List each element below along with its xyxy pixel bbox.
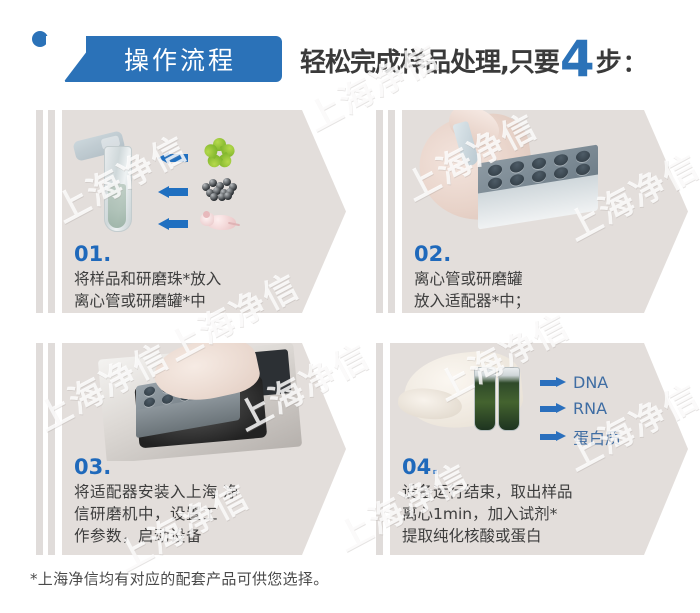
mouse-specimen-icon <box>200 210 240 232</box>
step-description-line: 作参数，启动设备 <box>74 525 239 547</box>
step-number: 02. <box>414 242 451 266</box>
headline-part2: 步 <box>596 42 621 79</box>
step-card-03: 03. 将适配器安装入上海 净 信研磨机中，设置工 作参数，启动设备 <box>36 343 346 555</box>
step-description-line: 信研磨机中，设置工 <box>74 503 239 525</box>
output-label: DNA <box>573 373 608 392</box>
badge-dot-icon <box>32 31 48 47</box>
step-description: 设备运行结束，取出样品 离心1min，加入试剂* 提取纯化核酸或蛋白 <box>402 481 573 547</box>
output-row-protein: 蛋白质 <box>540 425 621 449</box>
card-stripe <box>376 343 383 555</box>
step-04-photo: DNA RNA 蛋白质 <box>390 343 660 455</box>
step-description: 将样品和研磨珠*放入 离心管或研磨罐*中 <box>74 268 221 312</box>
leaf-specimen-icon <box>202 138 236 168</box>
page-header: 操作流程 轻松完成样品处理,只要 4 步 ： <box>0 0 700 96</box>
step-number: 04. <box>402 455 439 479</box>
grinding-beads-icon <box>200 176 238 200</box>
step-description-line: 设备运行结束，取出样品 <box>402 481 573 503</box>
arrow-left-icon <box>158 186 188 198</box>
step-description-line: 将样品和研磨珠*放入 <box>74 268 221 290</box>
output-label: 蛋白质 <box>573 425 621 449</box>
step-description-line: 提取纯化核酸或蛋白 <box>402 525 573 547</box>
step-description: 离心管或研磨罐 放入适配器*中； <box>414 268 530 312</box>
step-description-line: 离心1min，加入试剂* <box>402 503 573 525</box>
step-number: 01. <box>74 242 111 266</box>
card-stripe <box>388 110 395 313</box>
sample-vial-icon <box>498 367 520 431</box>
arrow-left-icon <box>158 152 188 164</box>
step-description-line: 离心管或研磨罐*中 <box>74 290 221 312</box>
step-card-02: 02. 离心管或研磨罐 放入适配器*中； <box>376 110 688 313</box>
step-description-line: 离心管或研磨罐 <box>414 268 530 290</box>
step-01-photo <box>62 110 312 245</box>
card-stripe <box>376 110 383 313</box>
card-panel: 02. 离心管或研磨罐 放入适配器*中； <box>402 110 688 313</box>
page-title: 轻松完成样品处理,只要 4 步 ： <box>300 34 647 79</box>
section-title-badge: 操作流程 <box>30 30 282 82</box>
card-stripe <box>48 110 55 313</box>
page-root: 操作流程 轻松完成样品处理,只要 4 步 ： <box>0 0 700 613</box>
output-label: RNA <box>573 399 607 418</box>
card-stripe <box>36 110 43 313</box>
arrow-right-icon <box>540 432 566 442</box>
headline-part1: 轻松完成样品处理,只要 <box>300 42 559 79</box>
output-row-dna: DNA <box>540 373 608 392</box>
arrow-right-icon <box>540 404 566 414</box>
step-card-04: DNA RNA 蛋白质 04. 设备运行结束，取出样品 离心1min，加入试剂*… <box>376 343 688 555</box>
card-stripe <box>36 343 43 555</box>
card-panel: 03. 将适配器安装入上海 净 信研磨机中，设置工 作参数，启动设备 <box>62 343 346 555</box>
headline-colon: ： <box>623 43 647 78</box>
card-panel: DNA RNA 蛋白质 04. 设备运行结束，取出样品 离心1min，加入试剂*… <box>390 343 688 555</box>
footnote: *上海净信均有对应的配套产品可供您选择。 <box>30 568 329 589</box>
headline-step-count: 4 <box>560 39 595 79</box>
step-02-photo <box>402 110 652 245</box>
step-number: 03. <box>74 455 111 479</box>
step-description-line: 将适配器安装入上海 净 <box>74 481 239 503</box>
card-panel: 01. 将样品和研磨珠*放入 离心管或研磨罐*中 <box>62 110 346 313</box>
sample-vial-icon <box>474 367 496 431</box>
output-row-rna: RNA <box>540 399 607 418</box>
badge-label: 操作流程 <box>78 36 282 82</box>
arrow-left-icon <box>158 218 188 230</box>
test-tube-icon <box>100 138 134 232</box>
step-03-photo <box>62 343 317 461</box>
step-description-line: 放入适配器*中； <box>414 290 530 312</box>
tube-liquid <box>108 184 126 228</box>
step-card-01: 01. 将样品和研磨珠*放入 离心管或研磨罐*中 <box>36 110 346 313</box>
card-stripe <box>48 343 55 555</box>
arrow-right-icon <box>540 378 566 388</box>
step-description: 将适配器安装入上海 净 信研磨机中，设置工 作参数，启动设备 <box>74 481 239 547</box>
